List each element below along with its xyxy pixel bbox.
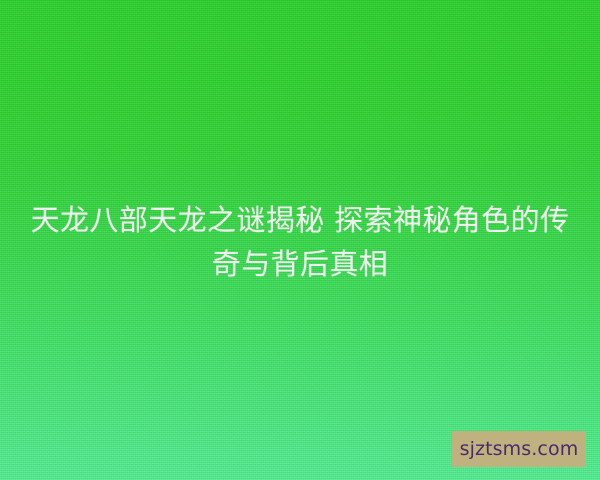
headline-line-1: 天龙八部天龙之谜揭秘 探索神秘角色的 [31, 203, 540, 237]
headline-text: 天龙八部天龙之谜揭秘 探索神秘角色的 传奇与背后真相 [0, 198, 600, 286]
watermark-label: sjztsms.com [460, 440, 579, 459]
watermark-badge: sjztsms.com [452, 431, 586, 467]
image-banner: 天龙八部天龙之谜揭秘 探索神秘角色的 传奇与背后真相 sjztsms.com [0, 0, 600, 480]
